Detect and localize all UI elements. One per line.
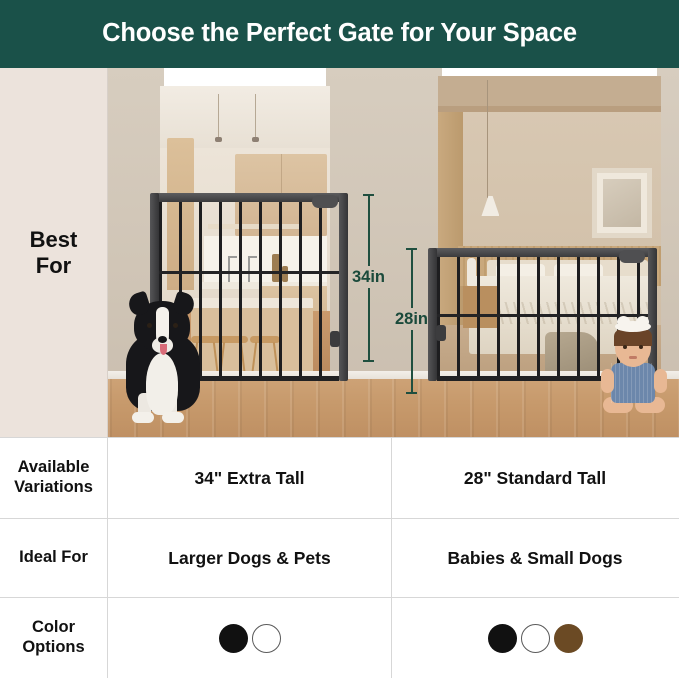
- measure-34in: 34in: [363, 194, 374, 378]
- cell-ideal-for-right: Babies & Small Dogs: [392, 519, 678, 597]
- bedroom-pendant-shade: [481, 196, 499, 216]
- dog-chest: [146, 353, 178, 415]
- baby-eye-left: [623, 345, 627, 349]
- gate-right-post: [339, 193, 348, 381]
- best-for-label-cell: Best For: [0, 68, 108, 437]
- gate-latch: [619, 250, 645, 263]
- measure-28in: 28in: [406, 248, 417, 408]
- best-for-label: Best For: [30, 227, 78, 279]
- measure-value-28in: 28in: [395, 310, 428, 329]
- cell-colors-right: [392, 598, 678, 678]
- row-label-line2: Options: [22, 638, 84, 656]
- row-label-color-options: Color Options: [0, 598, 108, 678]
- dog-illustration: [116, 291, 212, 423]
- cell-colors-left: [108, 598, 392, 678]
- best-for-label-line1: Best: [30, 227, 78, 252]
- bedroom-ceiling-trim: [438, 106, 661, 112]
- row-label-line2: Variations: [14, 478, 93, 496]
- gate-middle-rail: [159, 271, 339, 274]
- gate-middle-rail: [437, 314, 648, 317]
- baby-eye-right: [639, 345, 643, 349]
- gate-hinge: [330, 331, 340, 347]
- swatch-black[interactable]: [219, 624, 248, 653]
- best-for-row: Best For: [0, 68, 679, 437]
- left-product-image: 34in: [108, 68, 392, 437]
- right-product-image: 28in: [392, 68, 679, 437]
- dog-nose: [158, 336, 167, 343]
- baby-mouth: [629, 356, 637, 359]
- table-row-ideal-for: Ideal For Larger Dogs & Pets Babies & Sm…: [0, 518, 679, 597]
- table-row-available-variations: Available Variations 34" Extra Tall 28" …: [0, 437, 679, 518]
- measure-line-upper: [411, 250, 413, 308]
- dog-tongue: [160, 344, 167, 355]
- table-row-color-options: Color Options: [0, 597, 679, 678]
- best-for-label-line2: For: [36, 253, 71, 278]
- page-header: Choose the Perfect Gate for Your Space: [0, 0, 679, 68]
- measure-line-lower: [368, 288, 370, 360]
- swatch-white[interactable]: [252, 624, 281, 653]
- page-title: Choose the Perfect Gate for Your Space: [102, 21, 577, 47]
- dog-eye-left: [147, 323, 152, 328]
- swatch-group-right: [488, 624, 583, 653]
- baby-arm-left: [601, 369, 614, 393]
- dog-eye-right: [173, 323, 178, 328]
- cell-variations-right: 28" Standard Tall: [392, 438, 678, 518]
- row-label-line1: Available: [18, 458, 90, 476]
- baby-headband-bow: [615, 321, 651, 332]
- gate-comparison-page: Choose the Perfect Gate for Your Space B…: [0, 0, 679, 679]
- baby-arm-right: [654, 369, 667, 393]
- cell-variations-left: 34" Extra Tall: [108, 438, 392, 518]
- row-label-ideal-for: Ideal For: [0, 519, 108, 597]
- baby-illustration: [601, 323, 667, 419]
- dog-paw-right: [162, 412, 184, 423]
- gate-hinge: [436, 325, 446, 341]
- bedroom-pendant-cord: [487, 80, 488, 198]
- spec-rows: Available Variations 34" Extra Tall 28" …: [0, 437, 679, 679]
- measure-cap-bottom: [363, 360, 374, 362]
- swatch-black[interactable]: [488, 624, 517, 653]
- row-label-available-variations: Available Variations: [0, 438, 108, 518]
- bedroom-wall-art: [592, 168, 652, 238]
- cell-ideal-for-left: Larger Dogs & Pets: [108, 519, 392, 597]
- measure-line-upper: [368, 196, 370, 266]
- measure-line-lower: [411, 330, 413, 392]
- kitchen-pendant-light-2: [255, 94, 256, 138]
- bedroom-ceiling: [438, 76, 661, 106]
- kitchen-pendant-light-1: [218, 94, 219, 138]
- gate-latch: [312, 195, 338, 208]
- measure-value-34in: 34in: [352, 268, 385, 287]
- swatch-brown[interactable]: [554, 624, 583, 653]
- dog-paw-left: [132, 412, 154, 423]
- baby-torso: [611, 363, 655, 403]
- gate-left-post: [428, 248, 437, 381]
- swatch-group-left: [219, 624, 281, 653]
- swatch-white[interactable]: [521, 624, 550, 653]
- row-label-line1: Color: [32, 618, 75, 636]
- measure-cap-bottom: [406, 392, 417, 394]
